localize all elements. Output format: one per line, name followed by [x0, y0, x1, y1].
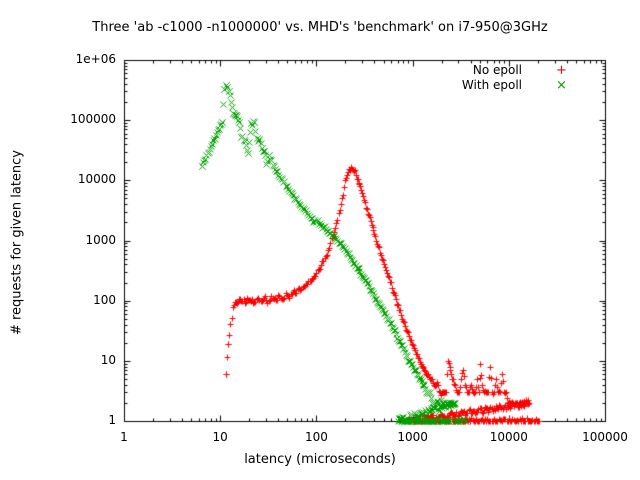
gnuplot-chart: Three 'ab -c1000 -n1000000' vs. MHD's 'b…	[0, 0, 640, 480]
scatter-plot-canvas	[0, 0, 640, 480]
